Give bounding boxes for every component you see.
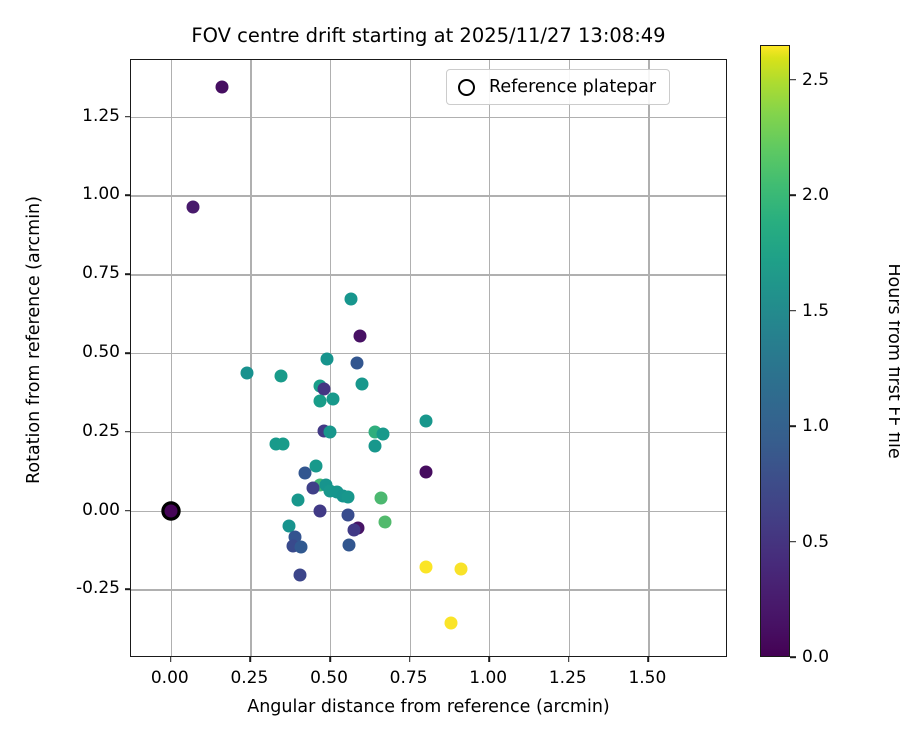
scatter-point bbox=[341, 509, 354, 522]
scatter-point bbox=[292, 494, 305, 507]
y-tick bbox=[125, 431, 131, 433]
scatter-point bbox=[320, 353, 333, 366]
scatter-point bbox=[276, 438, 289, 451]
scatter-point bbox=[314, 504, 327, 517]
x-tick bbox=[648, 656, 650, 662]
x-tick-label: 0.75 bbox=[390, 668, 428, 688]
x-tick bbox=[568, 656, 570, 662]
scatter-point bbox=[294, 541, 307, 554]
y-tick-label: 1.25 bbox=[82, 106, 120, 126]
colorbar-gradient bbox=[760, 45, 790, 657]
x-tick bbox=[409, 656, 411, 662]
x-tick bbox=[250, 656, 252, 662]
scatter-point bbox=[376, 427, 389, 440]
x-tick-label: 1.50 bbox=[628, 668, 666, 688]
colorbar-tick-label: 1.5 bbox=[802, 301, 829, 321]
x-axis-label: Angular distance from reference (arcmin) bbox=[130, 697, 727, 717]
colorbar-tick bbox=[790, 310, 796, 312]
scatter-point bbox=[347, 524, 360, 537]
scatter-points bbox=[131, 60, 726, 656]
colorbar-tick bbox=[790, 656, 796, 658]
scatter-point bbox=[455, 562, 468, 575]
scatter-point bbox=[343, 539, 356, 552]
colorbar-tick-label: 0.5 bbox=[802, 532, 829, 552]
scatter-point bbox=[274, 369, 287, 382]
x-tick-label: 1.25 bbox=[549, 668, 587, 688]
colorbar-label: Hours from first FF file bbox=[884, 211, 900, 511]
scatter-point bbox=[314, 394, 327, 407]
plot-axes bbox=[130, 59, 727, 657]
scatter-point bbox=[444, 617, 457, 630]
colorbar-tick-label: 2.5 bbox=[802, 70, 829, 90]
x-tick bbox=[329, 656, 331, 662]
colorbar-tick bbox=[790, 541, 796, 543]
scatter-point bbox=[293, 569, 306, 582]
colorbar-tick-label: 1.0 bbox=[802, 416, 829, 436]
scatter-point bbox=[374, 491, 387, 504]
scatter-point bbox=[342, 491, 355, 504]
chart-title: FOV centre drift starting at 2025/11/27 … bbox=[130, 24, 727, 47]
scatter-point bbox=[215, 80, 228, 93]
scatter-point bbox=[419, 414, 432, 427]
scatter-point bbox=[378, 515, 391, 528]
y-tick bbox=[125, 589, 131, 591]
x-tick-label: 0.00 bbox=[151, 668, 189, 688]
colorbar-tick-label: 0.0 bbox=[802, 647, 829, 667]
y-tick-label: -0.25 bbox=[76, 578, 120, 598]
scatter-point bbox=[327, 392, 340, 405]
x-tick bbox=[170, 656, 172, 662]
y-tick bbox=[125, 352, 131, 354]
y-axis-label: Rotation from reference (arcmin) bbox=[24, 190, 44, 490]
scatter-point bbox=[419, 560, 432, 573]
scatter-point bbox=[344, 293, 357, 306]
x-tick-label: 0.25 bbox=[230, 668, 268, 688]
scatter-point bbox=[419, 466, 432, 479]
colorbar-tick bbox=[790, 425, 796, 427]
y-tick bbox=[125, 116, 131, 118]
y-tick-label: 0.25 bbox=[82, 421, 120, 441]
scatter-point bbox=[309, 459, 322, 472]
figure-canvas: FOV centre drift starting at 2025/11/27 … bbox=[0, 0, 900, 750]
scatter-point bbox=[307, 481, 320, 494]
y-tick bbox=[125, 195, 131, 197]
colorbar-tick bbox=[790, 79, 796, 81]
scatter-point bbox=[351, 357, 364, 370]
y-tick bbox=[125, 510, 131, 512]
y-tick-label: 0.50 bbox=[82, 342, 120, 362]
legend[interactable]: Reference platepar bbox=[446, 69, 670, 105]
reference-platepar-point bbox=[164, 504, 177, 517]
colorbar: 0.00.51.01.52.02.5 bbox=[760, 45, 790, 657]
scatter-point bbox=[354, 329, 367, 342]
legend-entry-label: Reference platepar bbox=[489, 77, 656, 97]
y-tick bbox=[125, 273, 131, 275]
scatter-point bbox=[355, 377, 368, 390]
y-tick-label: 0.00 bbox=[82, 500, 120, 520]
colorbar-tick bbox=[790, 194, 796, 196]
y-tick-label: 0.75 bbox=[82, 263, 120, 283]
reference-platepar-marker-icon bbox=[458, 79, 475, 96]
x-tick-label: 0.50 bbox=[310, 668, 348, 688]
scatter-point bbox=[368, 439, 381, 452]
y-tick-label: 1.00 bbox=[82, 184, 120, 204]
scatter-point bbox=[187, 200, 200, 213]
x-tick bbox=[488, 656, 490, 662]
scatter-point bbox=[241, 366, 254, 379]
colorbar-tick-label: 2.0 bbox=[802, 185, 829, 205]
scatter-point bbox=[324, 425, 337, 438]
x-tick-label: 1.00 bbox=[469, 668, 507, 688]
